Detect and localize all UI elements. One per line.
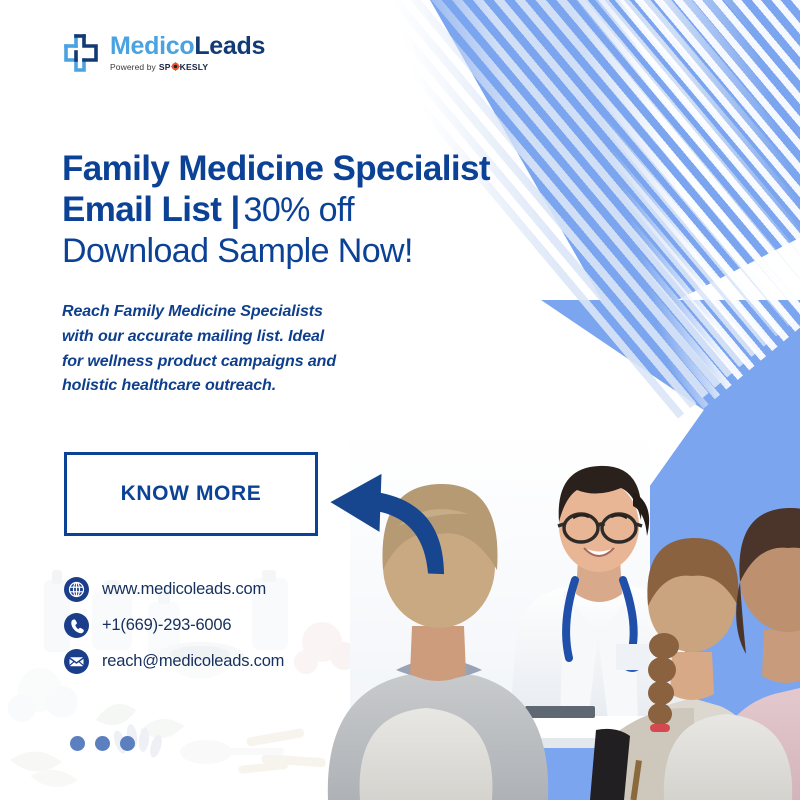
contact-row-phone[interactable]: +1(669)-293-6006 [64, 607, 284, 643]
powered-by-label: Powered by [110, 62, 156, 72]
poster-canvas: MedicoLeads Powered by SPKESLY Family Me… [0, 0, 800, 800]
decorative-dots [70, 736, 135, 751]
curved-left-arrow-icon [322, 462, 457, 577]
spokesly-brand: SPKESLY [159, 62, 208, 72]
contact-row-website[interactable]: www.medicoleads.com [64, 571, 284, 607]
phone-icon [64, 613, 89, 638]
headline-line-1: Family Medicine Specialist [62, 148, 490, 189]
contact-email-text: reach@medicoleads.com [102, 652, 284, 671]
brand-name: MedicoLeads [110, 34, 265, 59]
body-line-1: Reach Family Medicine Specialists [62, 300, 392, 325]
medical-cross-icon [62, 32, 102, 74]
headline-discount: 30% off [244, 191, 354, 229]
powered-by-line: Powered by SPKESLY [110, 62, 208, 72]
page-title: Family Medicine Specialist Email List | … [62, 148, 490, 271]
headline-line-2: Email List | 30% off [62, 189, 490, 230]
know-more-button-label: KNOW MORE [121, 482, 262, 506]
envelope-icon [64, 649, 89, 674]
globe-icon [64, 577, 89, 602]
spokesly-prefix: SP [159, 62, 171, 72]
contact-phone-text: +1(669)-293-6006 [102, 616, 231, 635]
gear-o-icon [171, 62, 180, 71]
contact-website-text: www.medicoleads.com [102, 580, 266, 599]
brand-name-part2: Leads [194, 32, 265, 60]
know-more-button[interactable]: KNOW MORE [64, 452, 318, 536]
headline-line-2-bold: Email List | [62, 190, 240, 229]
body-line-2: with our accurate mailing list. Ideal [62, 325, 392, 350]
dot-1 [70, 736, 85, 751]
spokesly-suffix: KESLY [180, 62, 209, 72]
brand-name-part1: Medico [110, 32, 194, 60]
body-paragraph: Reach Family Medicine Specialists with o… [62, 300, 392, 399]
dot-3 [120, 736, 135, 751]
body-line-4: holistic healthcare outreach. [62, 374, 392, 399]
brand-logo[interactable]: MedicoLeads Powered by SPKESLY [62, 32, 265, 74]
body-line-3: for wellness product campaigns and [62, 350, 392, 375]
headline-line-3: Download Sample Now! [62, 231, 490, 271]
contact-row-email[interactable]: reach@medicoleads.com [64, 643, 284, 679]
dot-2 [95, 736, 110, 751]
contact-list: www.medicoleads.com +1(669)-293-6006 rea… [64, 571, 284, 679]
blue-background-chevron [430, 300, 800, 800]
